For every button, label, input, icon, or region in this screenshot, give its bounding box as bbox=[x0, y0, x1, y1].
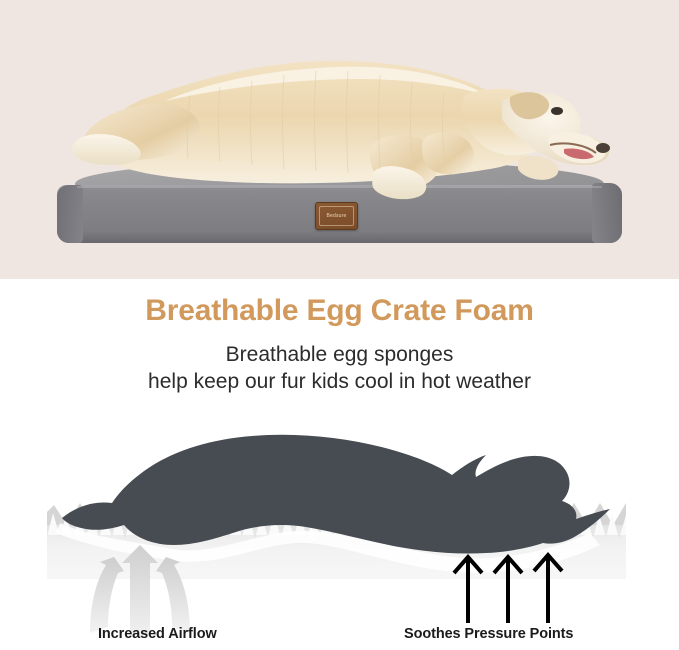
photo-stage: Bedsure bbox=[0, 0, 679, 279]
dog-paw-near-head bbox=[518, 156, 558, 180]
golden-retriever-photo bbox=[70, 35, 615, 210]
pressure-arrow-2 bbox=[494, 557, 522, 623]
pressure-arrow-1 bbox=[454, 557, 482, 623]
brand-logo-tag: Bedsure bbox=[315, 202, 358, 230]
feature-subheadline: Breathable egg sponges help keep our fur… bbox=[0, 341, 679, 395]
foam-cross-section-diagram bbox=[0, 405, 679, 650]
pressure-arrow-3 bbox=[534, 555, 562, 623]
brand-logo-text: Bedsure bbox=[319, 206, 354, 226]
feature-headline: Breathable Egg Crate Foam bbox=[0, 294, 679, 328]
subheadline-line-2: help keep our fur kids cool in hot weath… bbox=[0, 368, 679, 395]
diagram-svg bbox=[0, 405, 679, 650]
caption-increased-airflow: Increased Airflow bbox=[98, 626, 217, 642]
subheadline-line-1: Breathable egg sponges bbox=[0, 341, 679, 368]
product-photo-panel: Bedsure bbox=[0, 0, 679, 279]
caption-soothes-pressure-points: Soothes Pressure Points bbox=[404, 626, 573, 642]
product-feature-page: Bedsure Breathable Egg Crate Foam Breath… bbox=[0, 0, 679, 650]
dog-nose bbox=[596, 143, 610, 153]
dog-eye bbox=[551, 107, 563, 115]
airflow-arrow-center bbox=[122, 545, 158, 635]
